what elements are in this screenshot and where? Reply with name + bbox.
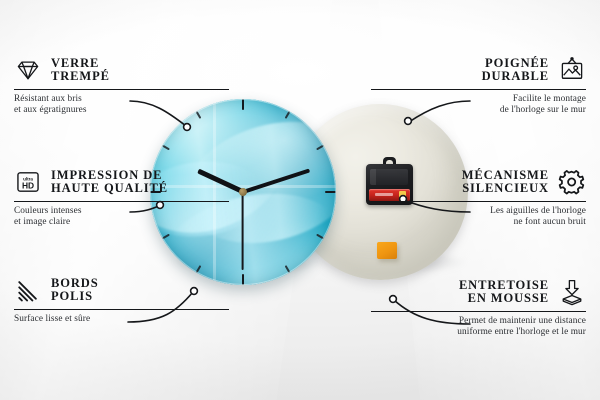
foam-spacer-icon	[558, 278, 586, 306]
feature-mecanisme-silencieux: MÉCANISME SILENCIEUX Les aiguilles de l'…	[371, 168, 586, 229]
feature-description: Couleurs intenses et image claire	[14, 206, 229, 229]
feature-impression-haute-qualite: ultra HD IMPRESSION DE HAUTE QUALITÉ Cou…	[14, 168, 229, 229]
feature-divider	[371, 201, 586, 202]
feature-entretoise-en-mousse: ENTRETOISE EN MOUSSE Permet de maintenir…	[371, 278, 586, 339]
feature-description: Les aiguilles de l'horloge ne font aucun…	[371, 206, 586, 229]
feature-title: IMPRESSION DE HAUTE QUALITÉ	[51, 169, 168, 196]
feature-header: MÉCANISME SILENCIEUX	[371, 168, 586, 196]
diamond-icon	[14, 56, 42, 84]
feature-header: ultra HD IMPRESSION DE HAUTE QUALITÉ	[14, 168, 229, 196]
feature-bords-polis: BORDS POLIS Surface lisse et sûre	[14, 276, 229, 325]
feature-divider	[14, 89, 229, 90]
feature-title: VERRE TREMPÉ	[51, 57, 110, 84]
feature-header: VERRE TREMPÉ	[14, 56, 229, 84]
feature-divider	[371, 311, 586, 312]
feature-description: Résistant aux bris et aux égratignures	[14, 94, 229, 117]
hanging-frame-icon	[558, 56, 586, 84]
feature-divider	[14, 201, 229, 202]
feature-divider	[14, 309, 229, 310]
feature-divider	[371, 89, 586, 90]
polished-edges-icon	[14, 276, 42, 304]
feature-poignee-durable: POIGNÉE DURABLE Facilite le montage de l…	[371, 56, 586, 117]
gear-icon	[558, 168, 586, 196]
feature-title: MÉCANISME SILENCIEUX	[462, 169, 549, 196]
svg-text:HD: HD	[22, 180, 34, 190]
feature-description: Surface lisse et sûre	[14, 314, 229, 325]
ultra-hd-icon: ultra HD	[14, 168, 42, 196]
feature-description: Facilite le montage de l'horloge sur le …	[371, 94, 586, 117]
foam-spacer	[377, 242, 397, 259]
infographic-canvas: VERRE TREMPÉ Résistant aux bris et aux é…	[0, 0, 600, 400]
feature-title: BORDS POLIS	[51, 277, 99, 304]
feature-title: ENTRETOISE EN MOUSSE	[459, 279, 549, 306]
feature-header: ENTRETOISE EN MOUSSE	[371, 278, 586, 306]
feature-verre-trempe: VERRE TREMPÉ Résistant aux bris et aux é…	[14, 56, 229, 117]
feature-header: BORDS POLIS	[14, 276, 229, 304]
feature-title: POIGNÉE DURABLE	[482, 57, 549, 84]
feature-description: Permet de maintenir une distance uniform…	[371, 316, 586, 339]
feature-header: POIGNÉE DURABLE	[371, 56, 586, 84]
